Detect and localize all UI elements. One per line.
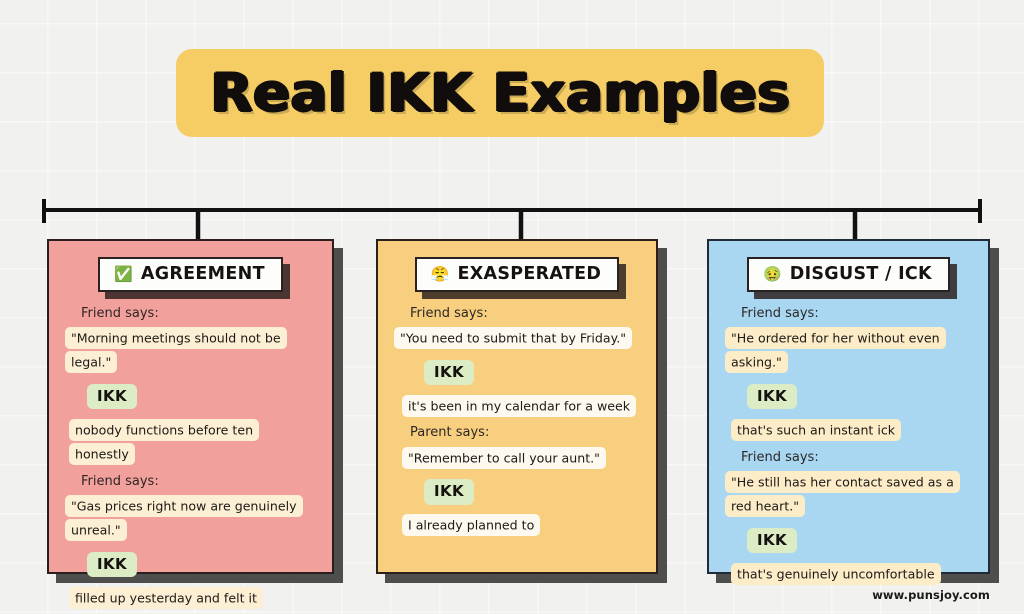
ikk-badge: IKK bbox=[424, 479, 474, 505]
ikk-badge: IKK bbox=[87, 552, 137, 578]
message-bubble: "Gas prices right now are genuinely unre… bbox=[65, 494, 316, 542]
card-header-wrap: 🤢 DISGUST / ICK bbox=[723, 257, 974, 292]
speaker-label: Friend says: bbox=[81, 306, 316, 322]
bracket-connector bbox=[0, 196, 1024, 242]
ikk-badge-row: IKK bbox=[424, 479, 640, 505]
conversation-exasperated: Friend says: "You need to submit that by… bbox=[392, 306, 642, 538]
card-title-exasperated: EXASPERATED bbox=[457, 264, 601, 284]
ikk-badge: IKK bbox=[747, 384, 797, 410]
message-bubble: "Remember to call your aunt." bbox=[402, 446, 640, 470]
card-header-exasperated: 😤 EXASPERATED bbox=[415, 257, 619, 292]
message-bubble: "He still has her contact saved as a red… bbox=[725, 470, 972, 518]
message-bubble: filled up yesterday and felt it bbox=[69, 586, 316, 610]
nauseated-face-icon: 🤢 bbox=[763, 267, 782, 282]
message-bubble: it's been in my calendar for a week bbox=[402, 394, 640, 418]
face-with-steam-from-nose-icon: 😤 bbox=[431, 267, 450, 282]
speaker-label: Parent says: bbox=[410, 425, 640, 441]
infographic-canvas: Real IKK Examples ✅ AGREEMENT Friend say… bbox=[0, 0, 1024, 614]
page-title: Real IKK Examples bbox=[210, 67, 790, 120]
ikk-badge-row: IKK bbox=[87, 552, 316, 578]
card-title-disgust-ick: DISGUST / ICK bbox=[790, 264, 932, 284]
message-bubble: "You need to submit that by Friday." bbox=[394, 327, 640, 351]
speaker-label: Friend says: bbox=[741, 450, 972, 466]
white-check-mark-icon: ✅ bbox=[114, 267, 133, 282]
ikk-badge-row: IKK bbox=[424, 360, 640, 386]
ikk-badge: IKK bbox=[87, 384, 137, 410]
site-watermark[interactable]: www.punsjoy.com bbox=[872, 588, 990, 602]
card-exasperated[interactable]: 😤 EXASPERATED Friend says: "You need to … bbox=[376, 239, 658, 574]
message-bubble: "He ordered for her without even asking.… bbox=[725, 327, 972, 375]
card-header-wrap: 😤 EXASPERATED bbox=[392, 257, 642, 292]
card-disgust-ick[interactable]: 🤢 DISGUST / ICK Friend says: "He ordered… bbox=[707, 239, 990, 574]
card-agreement[interactable]: ✅ AGREEMENT Friend says: "Morning meetin… bbox=[47, 239, 334, 574]
conversation-agreement: Friend says: "Morning meetings should no… bbox=[63, 306, 318, 610]
ikk-badge: IKK bbox=[747, 528, 797, 554]
title-banner: Real IKK Examples bbox=[176, 49, 824, 137]
speaker-label: Friend says: bbox=[741, 306, 972, 322]
ikk-badge-row: IKK bbox=[747, 528, 972, 554]
card-header-wrap: ✅ AGREEMENT bbox=[63, 257, 318, 292]
message-bubble: that's genuinely uncomfortable bbox=[731, 562, 972, 586]
ikk-badge: IKK bbox=[424, 360, 474, 386]
message-bubble: that's such an instant ick bbox=[731, 418, 972, 442]
message-bubble: I already planned to bbox=[402, 514, 640, 538]
speaker-label: Friend says: bbox=[410, 306, 640, 322]
ikk-badge-row: IKK bbox=[87, 384, 316, 410]
card-header-disgust-ick: 🤢 DISGUST / ICK bbox=[747, 257, 950, 292]
message-bubble: "Morning meetings should not be legal." bbox=[65, 327, 316, 375]
message-bubble: nobody functions before ten honestly bbox=[69, 418, 316, 466]
ikk-badge-row: IKK bbox=[747, 384, 972, 410]
speaker-label: Friend says: bbox=[81, 474, 316, 490]
conversation-disgust-ick: Friend says: "He ordered for her without… bbox=[723, 306, 974, 586]
card-title-agreement: AGREEMENT bbox=[141, 264, 265, 284]
card-header-agreement: ✅ AGREEMENT bbox=[98, 257, 283, 292]
